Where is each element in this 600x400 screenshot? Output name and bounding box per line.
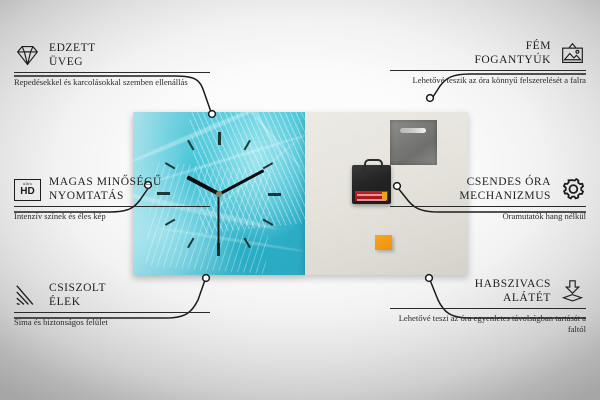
callout-subtitle: Lehetővé teszik az óra könnyű felszerelé… — [390, 75, 586, 86]
callout-title-line1: CSENDES ÓRA — [459, 176, 551, 190]
badge-large-text: HD — [20, 187, 34, 197]
callout-title-line2: NYOMTATÁS — [49, 190, 162, 204]
callout-title-line1: MAGAS MINŐSÉGŰ — [49, 176, 162, 190]
mechanism-battery-contact — [382, 192, 387, 200]
ultra-hd-badge-icon: ultra HD — [14, 179, 41, 201]
metal-hanger-plate — [390, 120, 437, 165]
callout-title-line2: ÜVEG — [49, 56, 96, 70]
picture-hanger-icon — [559, 41, 586, 66]
callout-csiszolt-elek: CSISZOLT ÉLEK Sima és biztonságos felüle… — [14, 282, 210, 328]
polished-edges-icon — [14, 283, 41, 308]
callout-title-line2: ALÁTÉT — [475, 292, 551, 306]
callout-edzett-uveg: EDZETT ÜVEG Repedésekkel és karcolásokka… — [14, 42, 210, 88]
callout-subtitle: Intenzív színek és éles kép — [14, 211, 210, 222]
callout-title-line2: FOGANTYÚK — [474, 54, 551, 68]
callout-habszivacs-alatet: HABSZIVACS ALÁTÉT Lehetővé teszi az óra … — [390, 278, 586, 334]
clock-mechanism — [352, 165, 391, 204]
callout-magas-minosegu-nyomtatas: ultra HD MAGAS MINŐSÉGŰ NYOMTATÁS Intenz… — [14, 176, 210, 222]
leader-endpoint — [427, 95, 434, 102]
callout-divider — [390, 70, 586, 71]
callout-title-line2: ÉLEK — [49, 296, 106, 310]
foam-pad — [375, 235, 392, 250]
callout-subtitle: Sima és biztonságos felület — [14, 317, 210, 328]
gear-icon — [559, 177, 586, 202]
clock-tick — [219, 193, 281, 195]
callout-fem-fogantyuk: FÉM FOGANTYÚK Lehetővé teszik az óra kön… — [390, 40, 586, 86]
callout-title-line1: EDZETT — [49, 42, 96, 56]
callout-title-line1: FÉM — [474, 40, 551, 54]
callout-title-line1: HABSZIVACS — [475, 278, 551, 292]
mechanism-hook — [364, 159, 383, 170]
callout-title-line1: CSISZOLT — [49, 282, 106, 296]
callout-divider — [14, 206, 210, 207]
clock-tick — [218, 132, 220, 194]
callout-title-line2: MECHANIZMUS — [459, 190, 551, 204]
callout-subtitle: Óramutatók hang nélkül — [390, 211, 586, 222]
callout-divider — [390, 308, 586, 309]
clock-center-cap — [216, 191, 222, 197]
callout-divider — [390, 206, 586, 207]
callout-divider — [14, 72, 210, 73]
foam-pad-arrow-icon — [559, 279, 586, 304]
infographic-canvas: EDZETT ÜVEG Repedésekkel és karcolásokka… — [0, 0, 600, 400]
hanger-slot — [400, 128, 426, 133]
callout-divider — [14, 312, 210, 313]
diamond-icon — [14, 43, 41, 68]
leader-endpoint — [203, 275, 210, 282]
callout-subtitle: Lehetővé teszi az óra egyenletes távolsá… — [390, 313, 586, 334]
callout-subtitle: Repedésekkel és karcolásokkal szemben el… — [14, 77, 210, 88]
callout-csendes-ora-mechanizmus: CSENDES ÓRA MECHANIZMUS Óramutatók hang … — [390, 176, 586, 222]
